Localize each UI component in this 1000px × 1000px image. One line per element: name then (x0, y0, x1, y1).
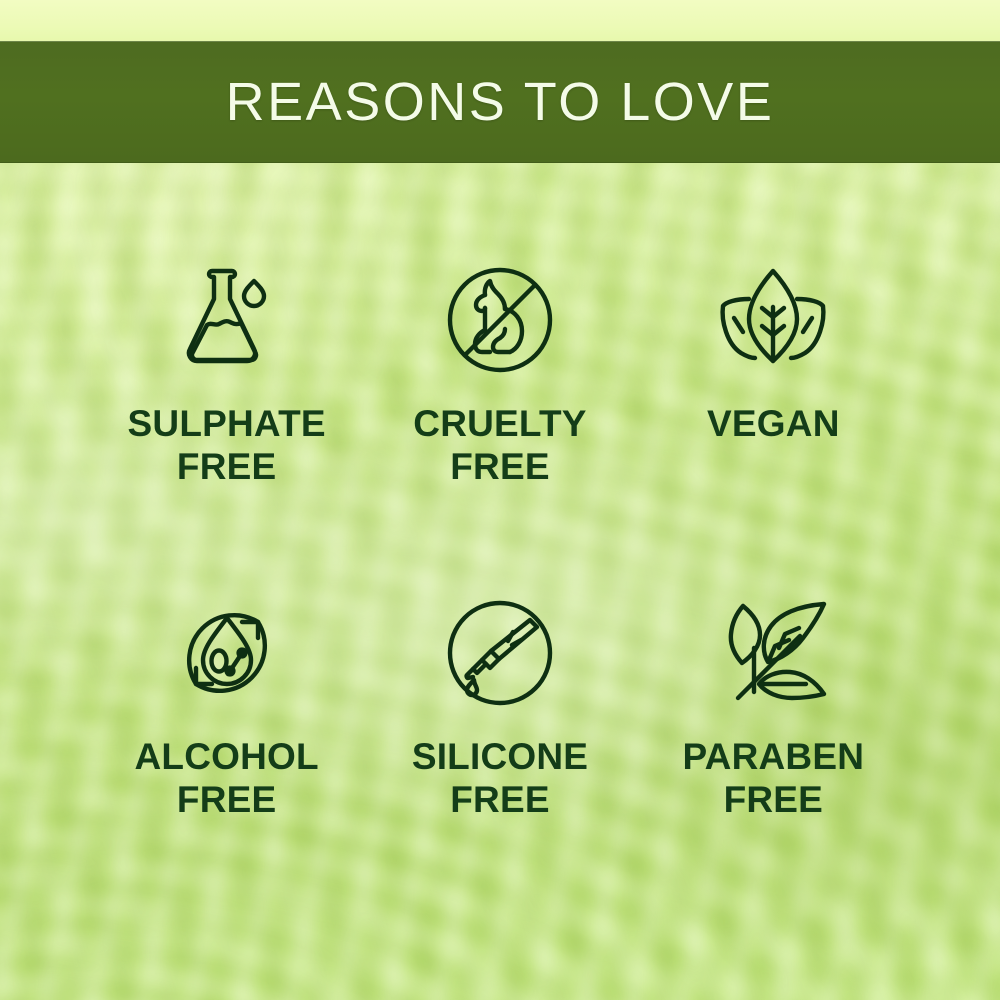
feature-cruelty-free: CRUELTY FREE (363, 255, 636, 488)
background-top-strip (0, 0, 1000, 44)
feature-sulphate-free: SULPHATE FREE (90, 255, 363, 488)
zero-percent-droplet-icon (162, 588, 292, 718)
feature-label: PARABEN FREE (683, 736, 865, 821)
no-animal-testing-icon (435, 255, 565, 385)
reasons-to-love-poster: REASONS TO LOVE SULPHATE FREE (0, 0, 1000, 1000)
feature-paraben-free: PARABEN FREE (637, 588, 910, 821)
feature-label: CRUELTY FREE (413, 403, 586, 488)
feature-grid: SULPHATE FREE CRUELTY FREE (90, 255, 910, 821)
feature-label: SILICONE FREE (412, 736, 588, 821)
feature-silicone-free: SILICONE FREE (363, 588, 636, 821)
feature-label: ALCOHOL FREE (135, 736, 319, 821)
leaf-sprig-icon (708, 588, 838, 718)
feature-alcohol-free: ALCOHOL FREE (90, 588, 363, 821)
page-title: REASONS TO LOVE (226, 75, 775, 129)
feature-label: VEGAN (707, 403, 840, 446)
three-leaves-icon (708, 255, 838, 385)
dropper-pipette-icon (435, 588, 565, 718)
feature-vegan: VEGAN (637, 255, 910, 488)
header-banner: REASONS TO LOVE (0, 41, 1000, 163)
flask-droplet-icon (162, 255, 292, 385)
feature-label: SULPHATE FREE (128, 403, 326, 488)
